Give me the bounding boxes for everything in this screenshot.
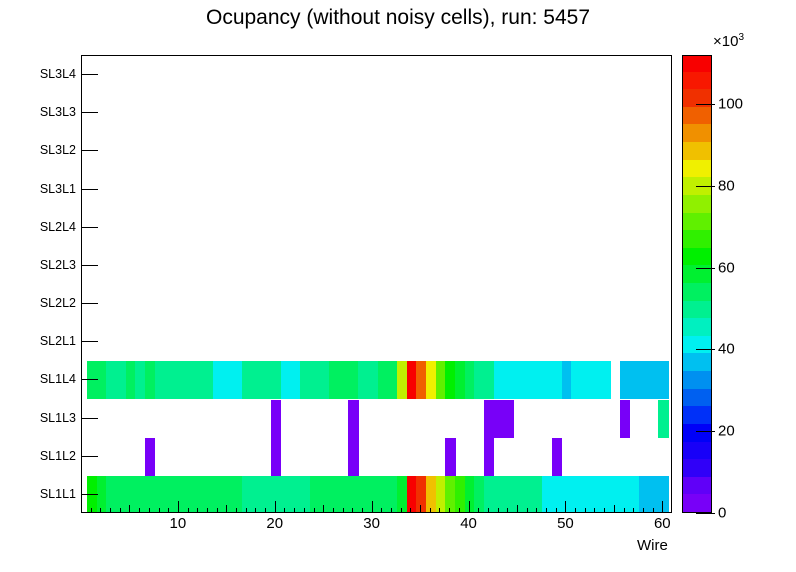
y-axis-label-sl2l1: SL2L1 — [6, 334, 76, 348]
x-axis-tick — [507, 508, 508, 513]
color-palette-bar — [682, 55, 712, 513]
y-axis-tick — [81, 456, 98, 457]
y-axis: SL1L1SL1L2SL1L3SL1L4SL2L1SL2L2SL2L3SL2L4… — [0, 0, 796, 572]
x-axis-tick — [643, 508, 644, 513]
x-axis-tick-label: 60 — [654, 515, 671, 532]
x-axis-tick — [226, 505, 227, 513]
palette-slice — [683, 458, 711, 476]
x-axis-tick — [333, 508, 334, 513]
palette-slice — [683, 318, 711, 336]
x-axis-tick — [110, 508, 111, 513]
x-axis-tick — [546, 508, 547, 513]
y-axis-tick — [81, 303, 98, 304]
x-axis-tick — [304, 508, 305, 513]
palette-tick — [696, 431, 715, 432]
x-axis-tick — [246, 508, 247, 513]
x-axis-tick — [633, 508, 634, 513]
x-axis-tick — [120, 508, 121, 513]
x-axis-tick — [420, 505, 421, 513]
x-axis-tick — [343, 508, 344, 513]
x-axis-tick — [149, 508, 150, 513]
palette-slice — [683, 406, 711, 424]
x-axis-tick — [255, 508, 256, 513]
palette-tick-label: 80 — [718, 177, 735, 194]
y-axis-tick — [81, 341, 98, 342]
x-axis-title: Wire — [637, 537, 668, 554]
palette-slice — [683, 71, 711, 89]
x-axis-tick-label: 40 — [460, 515, 477, 532]
palette-slice — [683, 247, 711, 265]
x-axis-tick — [585, 508, 586, 513]
x-axis-tick — [391, 508, 392, 513]
y-axis-label-sl2l2: SL2L2 — [6, 296, 76, 310]
x-axis-tick — [624, 508, 625, 513]
x-axis-tick — [188, 508, 189, 513]
x-axis-tick — [556, 508, 557, 513]
x-axis-tick — [662, 501, 663, 513]
palette-exponent: ×103 — [713, 32, 744, 50]
x-axis-tick — [91, 508, 92, 513]
x-axis-tick — [314, 508, 315, 513]
palette-slice — [683, 353, 711, 371]
x-axis-tick — [372, 501, 373, 513]
palette-slice — [683, 388, 711, 406]
y-axis-label-sl2l4: SL2L4 — [6, 220, 76, 234]
x-axis-tick — [478, 508, 479, 513]
x-axis-tick — [536, 508, 537, 513]
x-axis-tick — [168, 508, 169, 513]
x-axis-tick — [197, 508, 198, 513]
x-axis-tick — [575, 508, 576, 513]
x-axis-tick — [129, 505, 130, 513]
palette-tick — [696, 268, 715, 269]
palette-slice — [683, 159, 711, 177]
y-axis-label-sl3l2: SL3L2 — [6, 143, 76, 157]
x-axis-tick — [284, 508, 285, 513]
x-axis-tick-label: 30 — [363, 515, 380, 532]
palette-tick — [696, 186, 715, 187]
palette-tick — [696, 349, 715, 350]
palette-slice — [683, 370, 711, 388]
palette-slice — [683, 476, 711, 494]
y-axis-label-sl1l2: SL1L2 — [6, 449, 76, 463]
palette-tick-label: 60 — [718, 259, 735, 276]
palette-slice — [683, 229, 711, 247]
x-axis-tick — [401, 508, 402, 513]
x-axis-tick — [604, 508, 605, 513]
palette-tick-label: 0 — [718, 505, 726, 522]
x-axis-tick — [159, 508, 160, 513]
y-axis-label-sl1l4: SL1L4 — [6, 372, 76, 386]
palette-tick — [696, 513, 715, 514]
y-axis-label-sl1l1: SL1L1 — [6, 487, 76, 501]
palette-tick-label: 100 — [718, 96, 743, 113]
x-axis-tick — [323, 505, 324, 513]
x-axis-tick — [178, 501, 179, 513]
x-axis-tick — [594, 508, 595, 513]
x-axis-tick — [469, 501, 470, 513]
y-axis-tick — [81, 112, 98, 113]
x-axis-tick-label: 50 — [557, 515, 574, 532]
y-axis-label-sl3l4: SL3L4 — [6, 67, 76, 81]
y-axis-label-sl3l1: SL3L1 — [6, 182, 76, 196]
root-canvas: Ocupancy (without noisy cells), run: 545… — [0, 0, 796, 572]
palette-tick — [696, 104, 715, 105]
palette-slice — [683, 212, 711, 230]
x-axis-tick — [265, 508, 266, 513]
y-axis-tick — [81, 189, 98, 190]
y-axis-label-sl2l3: SL2L3 — [6, 258, 76, 272]
x-axis-tick — [430, 508, 431, 513]
palette-slice — [683, 106, 711, 124]
palette-slice — [683, 423, 711, 441]
palette-slice — [683, 55, 711, 72]
x-axis-tick — [517, 505, 518, 513]
x-axis-tick — [207, 508, 208, 513]
x-axis-tick — [488, 508, 489, 513]
x-axis-tick — [217, 508, 218, 513]
x-axis-tick — [439, 508, 440, 513]
x-axis-tick — [527, 508, 528, 513]
x-axis-tick — [449, 508, 450, 513]
y-axis-tick — [81, 227, 98, 228]
x-axis-tick — [275, 501, 276, 513]
y-axis-tick — [81, 494, 98, 495]
x-axis-tick — [294, 508, 295, 513]
palette-slice — [683, 141, 711, 159]
y-axis-tick — [81, 418, 98, 419]
palette-slice — [683, 441, 711, 459]
palette-slice — [683, 124, 711, 142]
y-axis-label-sl1l3: SL1L3 — [6, 411, 76, 425]
x-axis-tick — [100, 508, 101, 513]
x-axis-tick — [653, 508, 654, 513]
x-axis-tick — [614, 505, 615, 513]
x-axis-tick — [410, 508, 411, 513]
palette-slice — [683, 300, 711, 318]
y-axis-tick — [81, 150, 98, 151]
palette-slice — [683, 494, 711, 512]
x-axis-tick — [565, 501, 566, 513]
x-axis-tick — [498, 508, 499, 513]
y-axis-tick — [81, 379, 98, 380]
x-axis-tick — [236, 508, 237, 513]
x-axis-tick — [459, 508, 460, 513]
y-axis-tick — [81, 265, 98, 266]
palette-slice — [683, 282, 711, 300]
palette-tick-label: 20 — [718, 423, 735, 440]
x-axis-tick — [352, 508, 353, 513]
x-axis-tick — [381, 508, 382, 513]
palette-slice — [683, 335, 711, 353]
palette-tick-label: 40 — [718, 341, 735, 358]
y-axis-label-sl3l3: SL3L3 — [6, 105, 76, 119]
y-axis-tick — [81, 74, 98, 75]
x-axis-tick-label: 20 — [266, 515, 283, 532]
x-axis-tick — [362, 508, 363, 513]
x-axis-tick — [139, 508, 140, 513]
x-axis-tick-label: 10 — [170, 515, 187, 532]
palette-slice — [683, 194, 711, 212]
